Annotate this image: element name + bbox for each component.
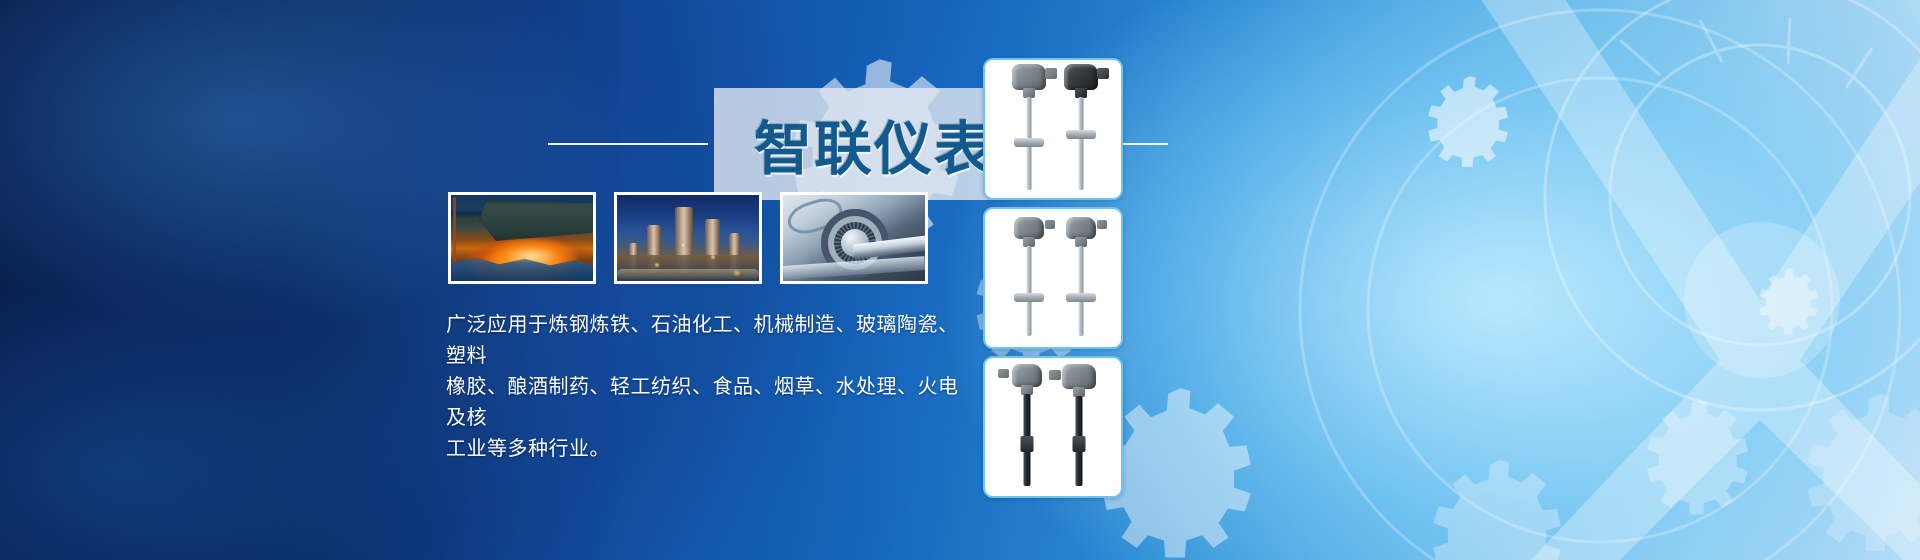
probe-head <box>1014 217 1044 239</box>
probe-grey-right <box>1059 217 1103 337</box>
probe-flange <box>1066 130 1096 139</box>
probe-head <box>1062 364 1096 389</box>
probe-grey-left <box>1007 217 1051 337</box>
probe-dark-right <box>1059 64 1103 190</box>
probe-cable-gland <box>1045 220 1055 229</box>
photo-machinery-manufacturing <box>780 192 928 284</box>
probe-flange <box>1014 138 1044 147</box>
probe-head <box>1012 64 1046 90</box>
probe-head <box>1012 364 1042 387</box>
probe-coupling <box>1021 436 1034 452</box>
furnace-vessel <box>479 201 596 241</box>
product-card-thermocouple-flanged-short[interactable] <box>983 207 1123 349</box>
probe-flange <box>1014 293 1044 302</box>
industry-photo-strip <box>448 192 928 284</box>
industrial-instrument-banner: 智联仪表 <box>0 0 1920 560</box>
probe-stem <box>1027 246 1032 336</box>
photo-steelmaking-furnace <box>448 192 596 284</box>
probe-cable-gland <box>998 369 1009 378</box>
gear-pattern-decoration <box>0 0 1920 560</box>
probe-head <box>1064 64 1098 90</box>
product-card-thermocouple-flanged-grey[interactable] <box>983 58 1123 200</box>
probe-cable-gland <box>1097 220 1107 229</box>
photo-petrochemical-plant <box>614 192 762 284</box>
probe-armored-right <box>1057 364 1101 488</box>
probe-coupling <box>1073 436 1086 452</box>
product-card-thermocouple-armored-black[interactable] <box>983 356 1123 498</box>
probe-stem <box>1079 246 1084 336</box>
probe-cable-gland <box>1097 68 1109 79</box>
description-line-2: 橡胶、酿酒制药、轻工纺织、食品、烟草、水处理、火电及核 <box>446 372 966 434</box>
probe-cable-gland <box>1049 370 1061 380</box>
probe-armored-left <box>1005 364 1049 488</box>
probe-head <box>1066 217 1096 239</box>
page-title: 智联仪表 <box>754 102 994 186</box>
plant-lights <box>617 195 759 281</box>
probe-stem <box>1079 97 1084 190</box>
probe-cable-gland <box>1045 68 1057 79</box>
description-line-3: 工业等多种行业。 <box>446 434 966 465</box>
application-description: 广泛应用于炼钢炼铁、石油化工、机械制造、玻璃陶瓷、塑料 橡胶、酿酒制药、轻工纺织… <box>446 310 966 465</box>
probe-grey-left <box>1007 64 1051 190</box>
title-rule-left <box>548 143 708 145</box>
probe-flange <box>1066 293 1096 302</box>
product-card-list <box>983 58 1123 505</box>
description-line-1: 广泛应用于炼钢炼铁、石油化工、机械制造、玻璃陶瓷、塑料 <box>446 310 966 372</box>
